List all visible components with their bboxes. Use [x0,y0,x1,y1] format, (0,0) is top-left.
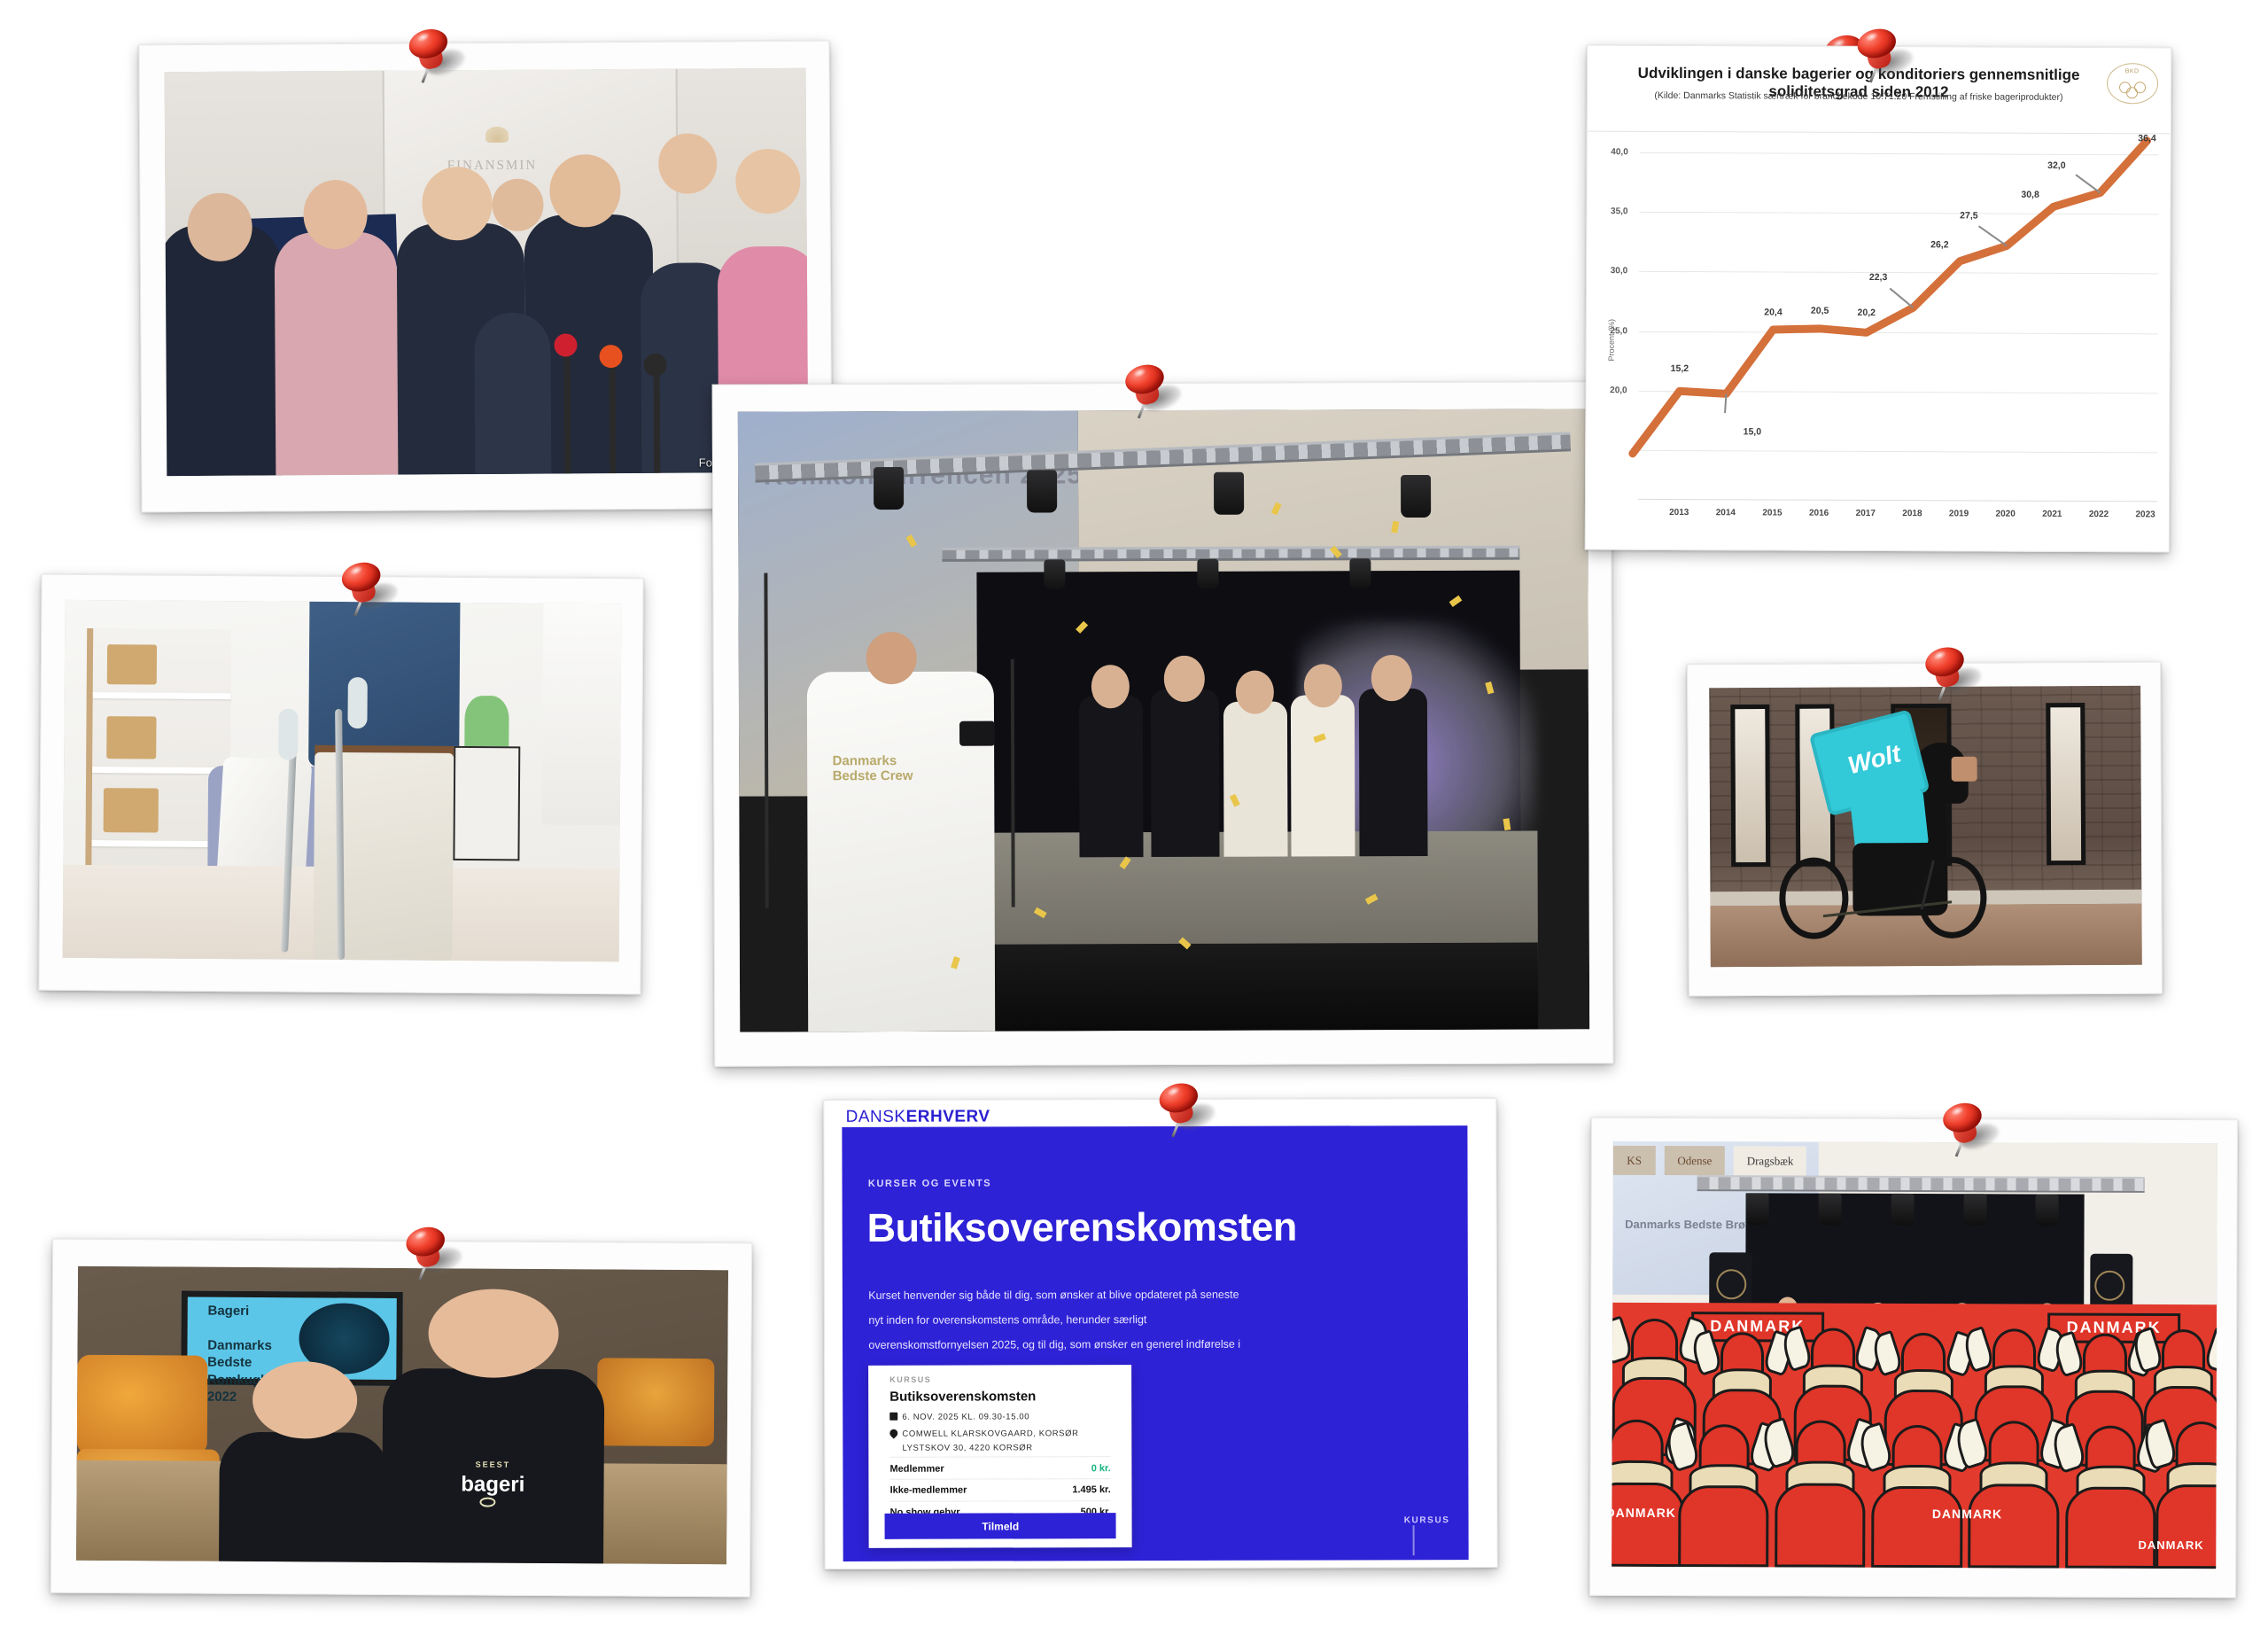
booking-eyebrow: KURSUS [889,1374,931,1383]
x-tick-2018: 2018 [1902,509,1922,518]
x-tick-2022: 2022 [2089,510,2109,519]
course-eyebrow: KURSER OG EVENTS [868,1179,991,1189]
card-danmark-fans[interactable]: Danmarks Bedste Brød & Kage KS Odense Dr… [1589,1117,2238,1599]
x-tick-2019: 2019 [1949,509,1969,518]
x-tick-2017: 2017 [1856,509,1876,518]
course-hero: KURSER OG EVENTS Butiksoverenskomsten Ku… [842,1125,1469,1561]
price-row-nonmembers: Ikke-medlemmer 1.495 kr. [890,1484,1111,1496]
bkd-logo-icon: BKD [2106,63,2157,104]
data-label-2020: 27,5 [1960,210,1977,221]
chart-subtitle: (Kilde: Danmarks Statistik særtræk for b… [1605,90,2113,102]
sponsor-dragsbaek: Dragsbæk [1734,1146,1806,1176]
shirt-logo-main: bageri [428,1474,558,1496]
x-tick-2014: 2014 [1716,508,1736,518]
jersey-text-right: DANMARK [2138,1538,2203,1552]
wolt-courier-photo: Wolt [1709,686,2142,968]
signup-button[interactable]: Tilmeld [885,1513,1116,1539]
data-label-2019: 26,2 [1930,239,1948,250]
course-heading: Butiksoverenskomsten [867,1203,1297,1250]
booking-title: Butiksoverenskomsten [889,1389,1036,1404]
card-course-butiksoverenskomsten[interactable]: DANSKERHVERV KURSER OG EVENTS Butiksover… [823,1098,1497,1569]
card-bakery-couple[interactable]: BageriDanmarksBedsteRomkugle2022 SEEST b… [50,1239,752,1598]
shirt-logo-top: SEEST [441,1460,545,1469]
x-tick-2013: 2013 [1669,508,1689,518]
crutches-photo [63,600,622,962]
data-label-2021: 30,8 [2021,190,2039,200]
bkd-logo-label: BKD [2108,69,2157,75]
sponsor-odense: Odense [1665,1146,1725,1176]
price-row-members: Medlemmer 0 kr. [889,1463,1110,1475]
dansk-erhverv-logo: DANSKERHVERV [846,1107,990,1126]
price-value-members: 0 kr. [1091,1463,1111,1474]
x-tick-2016: 2016 [1809,509,1829,518]
map-pin-icon [889,1428,900,1439]
data-label-2016: 20,5 [1811,306,1829,316]
side-label-rule [1413,1525,1415,1555]
course-side-label: KURSUS [1404,1515,1450,1525]
x-tick-2020: 2020 [1996,509,2016,518]
booking-venue: COMWELL KLARSKOVGAARD, KORSØR LYSTSKOV 3… [889,1428,1078,1455]
danmark-fans-illustration: Danmarks Bedste Brød & Kage KS Odense Dr… [1612,1141,2218,1569]
booking-date: 6. NOV. 2025 KL. 09.30-15.00 [889,1411,1029,1424]
logo-part-erhverv: ERHVERV [906,1107,990,1125]
bakery-couple-photo: BageriDanmarksBedsteRomkugle2022 SEEST b… [76,1266,728,1564]
chart-plot-area: 40,0 35,0 30,0 25,0 20,0 Procent (%) 15,… [1586,131,2171,551]
jersey-text-center: DANMARK [1932,1507,2002,1521]
card-soliditetsgrad-chart[interactable]: Udviklingen i danske bagerier og kondito… [1585,45,2171,553]
data-label-2023: 36,4 [2138,134,2155,144]
x-tick-2015: 2015 [1762,508,1782,518]
price-label-nonmembers: Ikke-medlemmer [890,1485,967,1496]
calendar-icon [889,1413,897,1421]
chart-header: Udviklingen i danske bagerier og kondito… [1588,46,2171,134]
data-label-2014: 15,0 [1744,426,1761,437]
card-wolt-courier[interactable]: Wolt [1687,662,2163,997]
data-label-2018: 22,3 [1869,272,1887,283]
data-label-2017: 20,2 [1858,308,1876,318]
crew-shirt-text: DanmarksBedste Crew [833,752,913,783]
data-label-2013: 15,2 [1671,363,1689,374]
logo-part-dansk: DANSK [846,1108,906,1126]
x-tick-2023: 2023 [2135,510,2155,519]
price-value-nonmembers: 1.495 kr. [1072,1484,1110,1495]
data-label-2022: 32,0 [2047,160,2065,171]
price-label-members: Medlemmer [889,1463,944,1474]
award-stage-photo: Romkonkurrencen 2025 [738,409,1589,1032]
photo-board: FINANSMIN ← Udgang [0,0,2268,1643]
card-award-stage[interactable]: Romkonkurrencen 2025 [712,381,1614,1067]
x-tick-2021: 2021 [2042,510,2062,519]
data-label-2015: 20,4 [1764,308,1782,318]
card-crutches[interactable] [38,574,643,995]
course-booking-box[interactable]: KURSUS Butiksoverenskomsten 6. NOV. 2025… [868,1365,1131,1548]
jersey-text-left: DANMARK [1612,1506,1676,1520]
sponsor-ks: KS [1613,1146,1656,1176]
chart-series-line [1586,131,2171,551]
